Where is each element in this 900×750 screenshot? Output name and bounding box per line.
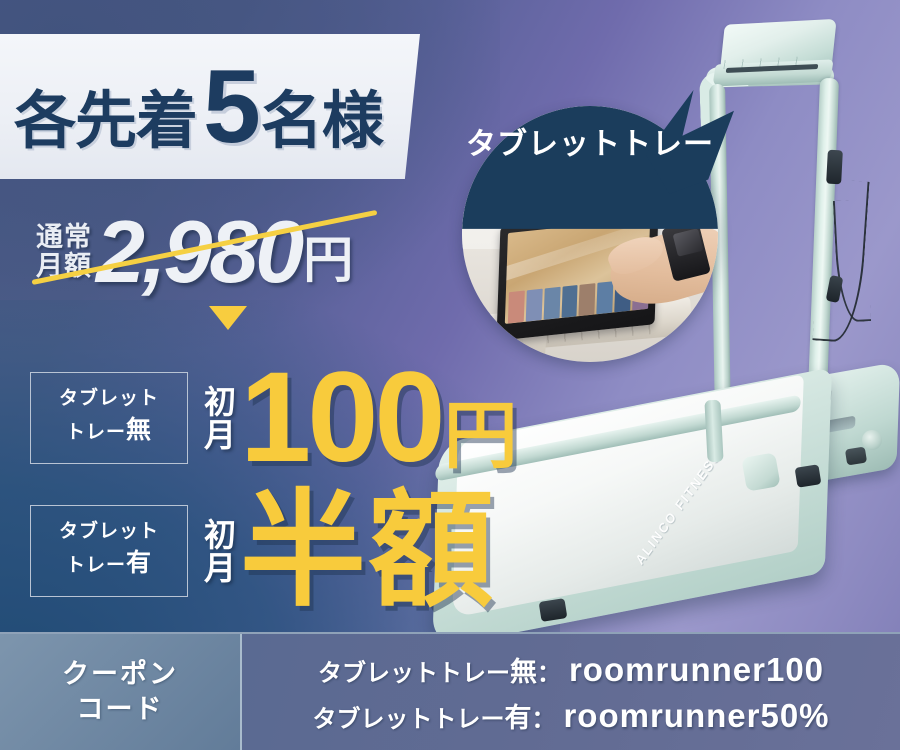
offer-tier-with-tray-line2-prefix: トレー [66, 555, 126, 576]
offer-tier-no-tray-line2: トレー無 [45, 413, 173, 449]
deck-foot-rear [795, 464, 822, 488]
banner-quantity: 5 [203, 55, 257, 159]
offer-tier-with-tray-period: 初月 [202, 518, 234, 584]
console-tray [719, 19, 836, 77]
photo-thumbnail [543, 287, 560, 320]
coupon-title-line2: コード [77, 692, 164, 727]
offer-tier-no-tray-box: タブレット トレー無 [30, 372, 188, 463]
banner-suffix: 名様 [261, 91, 383, 153]
offer-tier-with-tray-price: 半額 [240, 492, 496, 610]
coupon-footer: クーポン コード タブレットトレー無： roomrunner100 タブレットト… [0, 632, 900, 750]
first-come-banner: 各先着 5 名様 [0, 34, 420, 179]
coupon-title: クーポン コード [0, 634, 242, 750]
coupon-code-row-with-tray: タブレットトレー有： roomrunner50% [312, 696, 829, 735]
coupon-code-row-no-tray: タブレットトレー無： roomrunner100 [318, 650, 824, 689]
offer-tier-with-tray-line1: タブレット [45, 519, 173, 546]
tablet-tray-callout: タブレットトレー [462, 106, 718, 362]
control-knob [826, 150, 843, 185]
offer-tier-with-tray-amount: 半額 [240, 480, 496, 621]
photo-thumbnail [561, 285, 578, 318]
offer-tier-with-tray-line2: トレー有 [45, 546, 173, 582]
deck-foot-side [845, 447, 867, 466]
offer-tier-with-tray-line2-emph: 有 [126, 549, 152, 577]
offer-tier-no-tray-price: 100円 [240, 358, 518, 478]
offer-tier-with-tray: タブレット トレー有 初月 半額 [30, 492, 496, 610]
coupon-label-with-tray-separator: ： [531, 706, 555, 733]
console-slot [726, 64, 819, 73]
motor-vent-lower [761, 416, 856, 445]
safety-cord-loop [833, 199, 871, 323]
coupon-label-no-tray: タブレットトレー無： [318, 650, 561, 689]
transport-wheel [862, 430, 882, 450]
coupon-title-line1: クーポン [62, 657, 178, 692]
offer-tier-no-tray: タブレット トレー無 初月 100円 [30, 358, 518, 478]
offer-tier-no-tray-line2-emph: 無 [126, 416, 152, 444]
photo-thumbnail [508, 291, 525, 324]
handlebar-bridge [706, 64, 834, 87]
regular-price-label-line1: 通常 [36, 223, 92, 252]
console-lip [712, 59, 833, 86]
safety-clip [826, 275, 844, 303]
coupon-label-with-tray-prefix: タブレットトレー [312, 706, 504, 733]
coupon-label-with-tray-emph: 有 [504, 703, 531, 733]
motor-vent-upper [713, 387, 832, 423]
console-keys [723, 56, 812, 69]
safety-cord [812, 179, 869, 344]
coupon-code-no-tray[interactable]: roomrunner100 [569, 651, 824, 689]
first-come-banner-text: 各先着 5 名様 [0, 55, 383, 159]
photo-thumbnail [526, 289, 543, 322]
left-post-base [704, 400, 723, 463]
offer-tier-no-tray-amount: 100 [240, 346, 442, 489]
coupon-label-with-tray: タブレットトレー有： [312, 696, 555, 735]
motor-cowl [676, 361, 900, 506]
banner-prefix: 各先着 [14, 91, 197, 153]
coupon-label-no-tray-prefix: タブレットトレー [318, 660, 510, 687]
regular-price-amount: 2,980 [96, 212, 301, 293]
callout-label: タブレットトレー [462, 126, 718, 164]
coupon-label-no-tray-separator: ： [537, 660, 561, 687]
deck-brand-label: ALINCO FITNESS [632, 447, 723, 567]
coupon-label-no-tray-emph: 無 [510, 657, 537, 687]
down-arrow-icon [209, 306, 247, 330]
offer-tier-with-tray-box: タブレット トレー有 [30, 505, 188, 596]
photo-thumbnail [597, 281, 614, 314]
coupon-code-list: タブレットトレー無： roomrunner100 タブレットトレー有： room… [242, 634, 900, 750]
deck-foot-front [539, 598, 568, 622]
right-upright-post [804, 78, 839, 498]
offer-tier-no-tray-line1: タブレット [45, 386, 173, 413]
offer-tier-no-tray-period: 初月 [202, 385, 234, 451]
regular-price-currency: 円 [303, 235, 353, 285]
offer-tier-no-tray-currency: 円 [444, 394, 518, 477]
coupon-code-with-tray[interactable]: roomrunner50% [563, 697, 829, 735]
offer-tier-no-tray-line2-prefix: トレー [66, 422, 126, 443]
promo-ad-banner: ALINCO FITNESS 各先着 5 名様 通常 月額 2,980 円 タブ… [0, 0, 900, 750]
photo-thumbnail [579, 283, 596, 316]
deck-folding-hinge [741, 452, 780, 491]
